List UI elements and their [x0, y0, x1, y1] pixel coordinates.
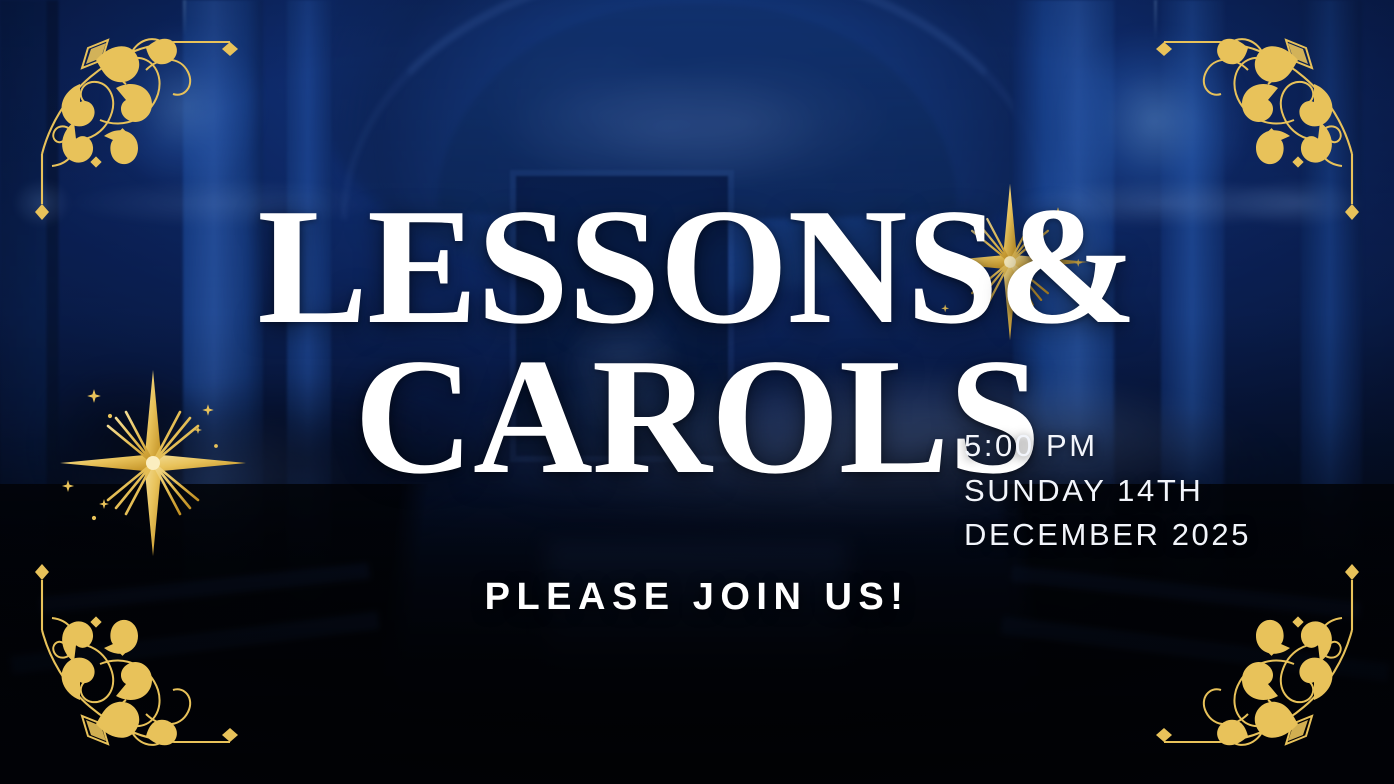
poster-canvas: LESSONS& CAROLS 5:00 PM SUNDAY 14TH DECE…: [0, 0, 1394, 784]
call-to-action: PLEASE JOIN US!: [0, 576, 1394, 619]
event-details: 5:00 PM SUNDAY 14TH DECEMBER 2025: [964, 424, 1251, 558]
title-word-carols: CAROLS: [354, 324, 1040, 508]
event-day: SUNDAY 14TH: [964, 469, 1251, 514]
event-month-year: DECEMBER 2025: [964, 513, 1251, 558]
title-line-one: LESSONS&: [0, 196, 1394, 337]
event-time: 5:00 PM: [964, 424, 1251, 469]
